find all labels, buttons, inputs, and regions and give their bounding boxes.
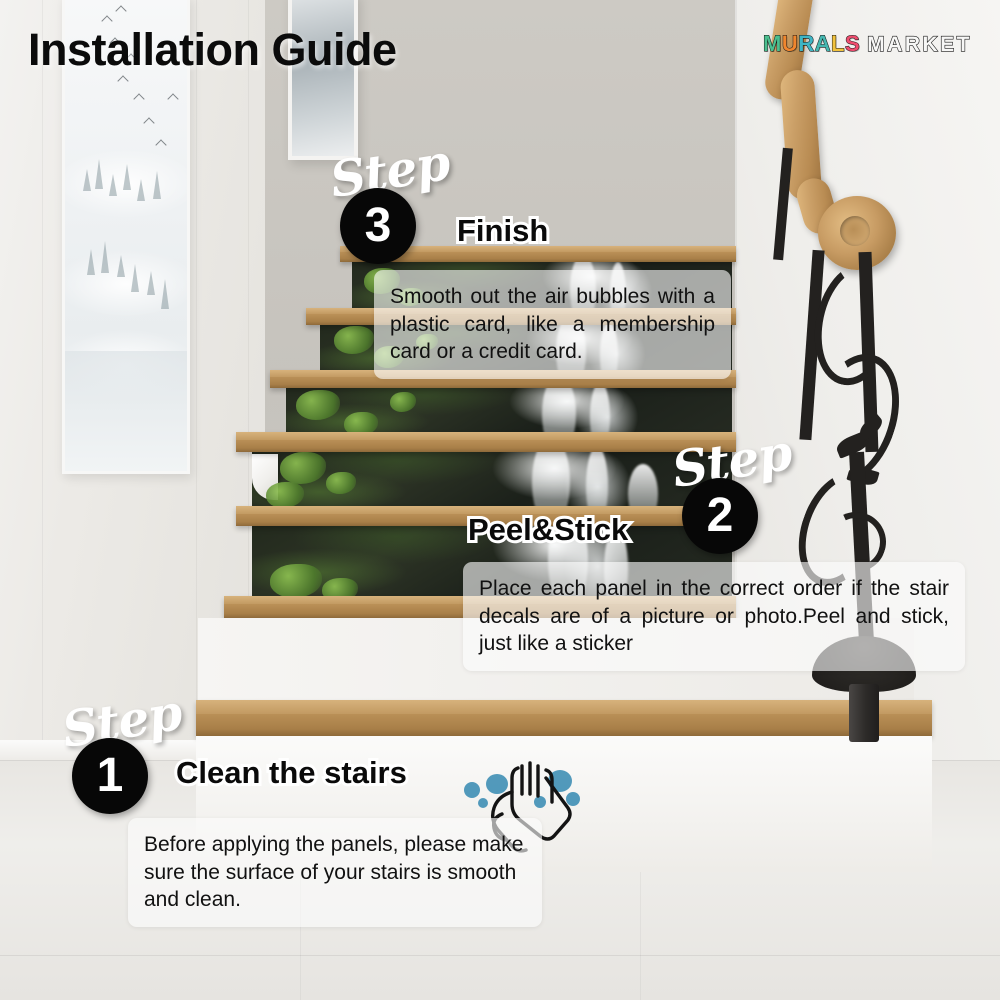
step-number: 3 [365,202,392,250]
step-number: 2 [707,492,734,540]
step-badge-1: Step 1 [62,692,192,814]
step-body-text: Place each panel in the correct order if… [479,575,949,658]
logo-letter: L [831,31,845,57]
logo-letter: S [845,31,860,57]
art-mist [62,249,190,319]
art-water [65,351,187,471]
step-body-2: Place each panel in the correct order if… [463,562,965,671]
logo-letter: U [782,31,798,57]
logo-letter: R [798,31,814,57]
wall-seam [196,0,197,760]
step-badge-2: Step 2 [672,432,802,554]
step-heading-2: Peel&Stick [468,512,628,548]
handrail-volute [818,196,896,270]
step-body-text: Before applying the panels, please make … [144,831,526,914]
step-heading-1: Clean the stairs [176,755,407,791]
installation-guide-infographic: Installation Guide M U R A L S MARKET St… [0,0,1000,1000]
step-body-text: Smooth out the air bubbles with a plasti… [390,283,715,366]
brand-logo[interactable]: M U R A L S MARKET [763,31,972,57]
step-body-1: Before applying the panels, please make … [128,818,542,927]
step-heading-3: Finish [457,213,548,249]
step-number: 1 [97,752,124,800]
stair-tread [236,432,736,452]
logo-letter: M [763,31,782,57]
step-body-3: Smooth out the air bubbles with a plasti… [374,270,731,379]
step-number-circle: 1 [72,738,148,814]
floor-tile-seam [0,955,1000,956]
wall-seam [42,0,43,760]
iron-newel-post [849,684,879,742]
step-badge-3: Step 3 [330,142,460,264]
stair-tread-bottom [196,700,932,736]
logo-letter: A [815,31,831,57]
step-number-circle: 2 [682,478,758,554]
step-number-circle: 3 [340,188,416,264]
brand-logo-murals: M U R A L S [763,31,860,57]
brand-logo-market: MARKET [867,33,972,57]
page-title: Installation Guide [28,24,397,76]
